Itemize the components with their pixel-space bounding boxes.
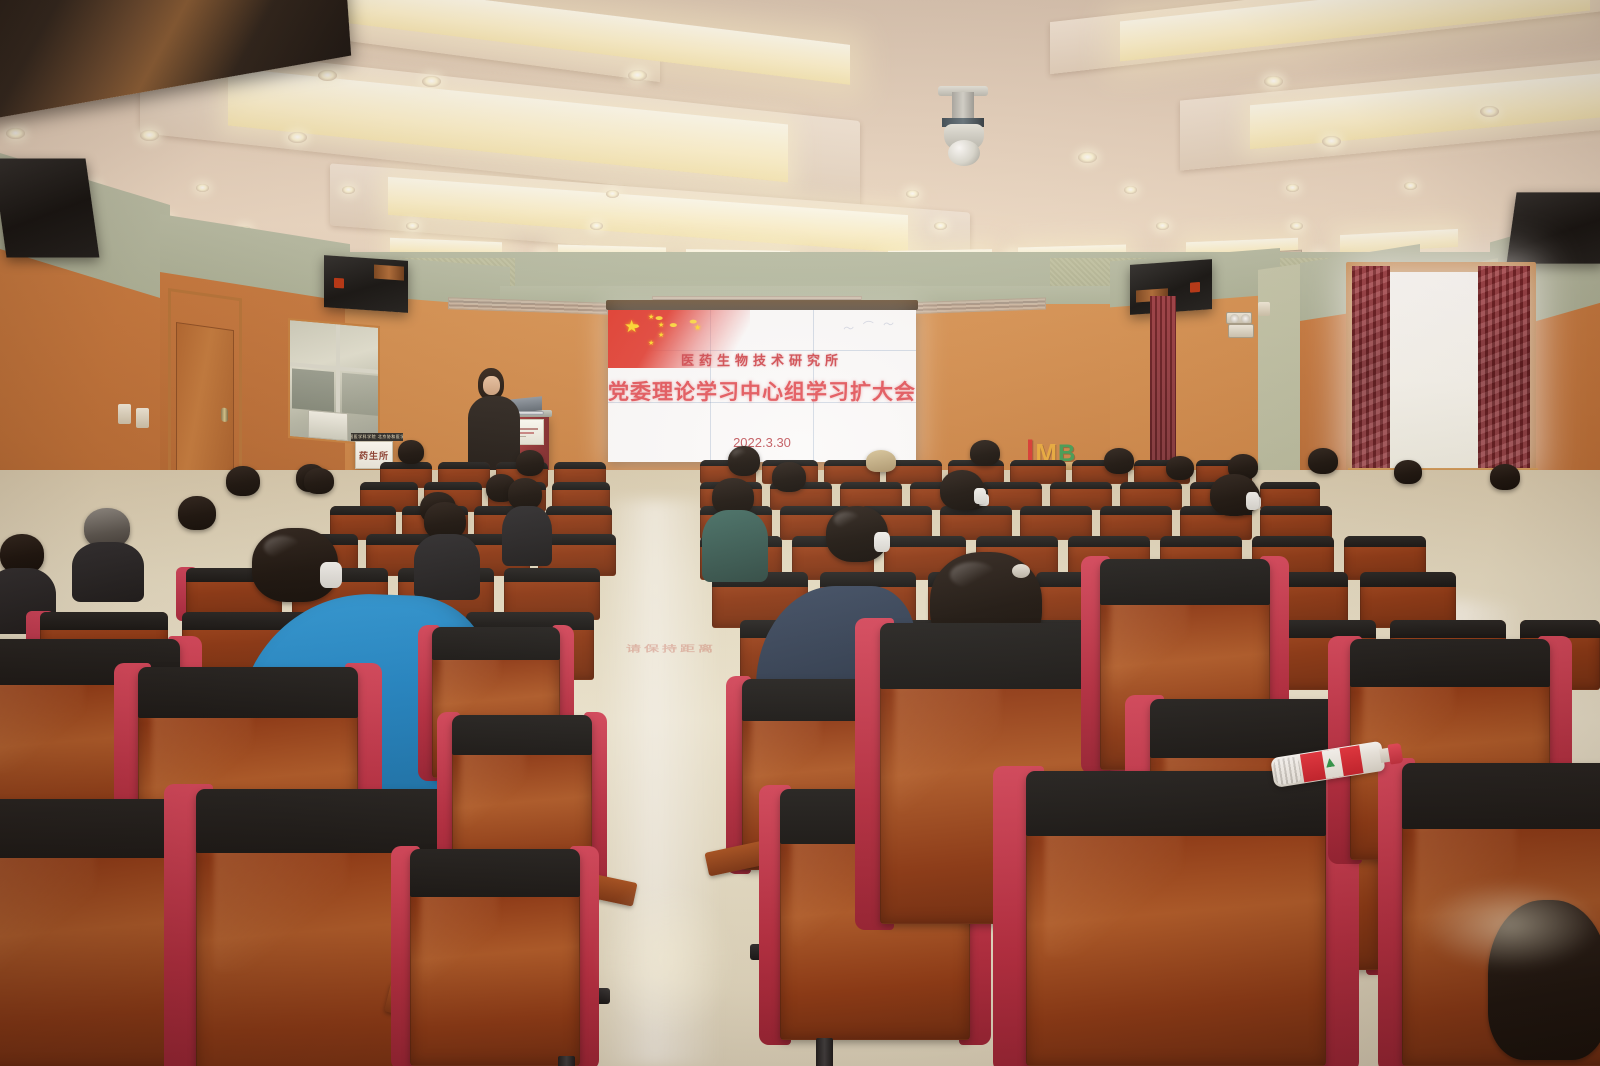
aisle-seat-left-edge-3[interactable] xyxy=(410,850,580,1066)
seat-headrest xyxy=(138,667,358,718)
seat-headrest xyxy=(1402,763,1600,829)
seat-headrest xyxy=(552,482,610,490)
seat-leg xyxy=(816,1038,833,1066)
head xyxy=(226,466,260,496)
seat-headrest xyxy=(1068,536,1150,547)
placard-header-bar: 中国医学科学院 北京协和医学院 xyxy=(351,433,403,441)
window-pane-dark xyxy=(292,368,334,412)
speaker-reflection-left xyxy=(374,265,404,281)
seat-headrest xyxy=(330,506,396,515)
seat-headrest xyxy=(1120,482,1182,489)
downlight-2 xyxy=(318,70,337,81)
seat-headrest xyxy=(880,623,1110,689)
head xyxy=(1488,900,1600,1060)
placard-text: 药生所 xyxy=(359,449,389,462)
head xyxy=(516,450,544,476)
head xyxy=(178,496,216,530)
light-switch-plate-1[interactable] xyxy=(118,404,131,424)
window-inner-box xyxy=(308,410,348,441)
projection-screen-housing xyxy=(606,300,918,310)
downlight-11 xyxy=(1480,106,1499,117)
downlight-19 xyxy=(1404,182,1417,190)
face-mask xyxy=(320,562,342,588)
seat-headrest xyxy=(452,715,592,755)
hair-highlight xyxy=(264,536,300,558)
downlight-17 xyxy=(1124,186,1137,194)
jacket xyxy=(702,510,768,582)
slide-organization-text: 医药生物技术研究所 xyxy=(608,350,916,369)
flag-star-big: ★ xyxy=(624,318,639,335)
jacket xyxy=(414,534,480,600)
downlight-22 xyxy=(406,222,419,230)
speaker-icon-right-far xyxy=(1507,192,1600,263)
camera-dome-lens xyxy=(948,140,980,166)
hair-highlight xyxy=(732,449,746,459)
seat-headrest xyxy=(1260,482,1320,489)
head xyxy=(1104,448,1134,474)
downlight-4 xyxy=(6,128,25,139)
seat-headrest xyxy=(1344,536,1426,547)
foreground-seat-right-6[interactable] xyxy=(1026,772,1326,1066)
seat-headrest xyxy=(410,849,580,897)
emergency-light-icon xyxy=(1226,312,1252,324)
flag-star-5: ★ xyxy=(694,324,701,332)
head-with-cap xyxy=(866,450,896,472)
head xyxy=(1166,456,1194,480)
seat-headrest xyxy=(432,627,560,660)
downlight-9 xyxy=(1078,152,1097,163)
door-handle[interactable] xyxy=(221,407,228,422)
downlight-7 xyxy=(628,70,647,81)
seat-headrest xyxy=(1010,460,1066,466)
curtain-right-panel[interactable] xyxy=(1478,266,1530,470)
light-switch-plate-2[interactable] xyxy=(136,408,149,428)
face-mask xyxy=(974,488,986,504)
wall-control-box[interactable] xyxy=(1228,324,1254,338)
placard-header-text: 中国医学科学院 北京协和医学院 xyxy=(351,434,403,440)
slide-date-text: 2022.3.30 xyxy=(608,435,916,450)
flag-star-2: ★ xyxy=(658,322,664,329)
emergency-lamp-left xyxy=(1230,314,1239,323)
curtain-left-panel[interactable] xyxy=(1352,266,1390,470)
downlight-16 xyxy=(906,190,919,198)
seat-headrest xyxy=(820,572,916,587)
speaker-icon-left-far xyxy=(0,158,99,257)
downlight-26 xyxy=(1290,222,1303,230)
hair-highlight xyxy=(834,512,860,528)
downlight-6 xyxy=(288,132,307,143)
curtain-secondary[interactable] xyxy=(1150,296,1176,472)
seat-headrest xyxy=(840,482,902,489)
seat-headrest xyxy=(1360,572,1456,587)
seat-headrest xyxy=(1050,482,1112,489)
downlight-8 xyxy=(1264,76,1283,87)
speaker-led-right xyxy=(1190,282,1200,293)
speaker-icon-left xyxy=(324,255,408,313)
seat-headrest xyxy=(1100,559,1270,605)
floor-marking-text: 请保持距离 xyxy=(626,643,716,655)
seat-headrest xyxy=(424,482,482,490)
seat-headrest xyxy=(360,482,418,490)
seat-headrest xyxy=(1390,620,1506,638)
seat-headrest xyxy=(976,536,1058,547)
control-room-window xyxy=(288,318,380,446)
wall-outlet-plate[interactable] xyxy=(1258,302,1270,316)
seat-headrest xyxy=(980,482,1042,489)
seat-headrest xyxy=(884,536,966,547)
jacket xyxy=(502,506,552,566)
head xyxy=(772,462,806,492)
slide-cloud-decoration: ～ ⌒ ～ xyxy=(843,315,899,337)
presenter-face xyxy=(483,376,500,395)
floor-highlight-aisle xyxy=(600,500,720,1066)
bottle-ribs xyxy=(1272,756,1302,786)
downlight-23 xyxy=(590,222,603,230)
seat-row-far-right-3 xyxy=(700,506,1380,540)
flag-star-4: ★ xyxy=(648,340,654,347)
seat-leg xyxy=(558,1056,575,1066)
downlight-15 xyxy=(606,190,619,198)
downlight-14 xyxy=(342,186,355,194)
speaker-led-left xyxy=(334,278,344,289)
slide-title-text: 党委理论学习中心组学习扩大会 xyxy=(608,376,916,406)
head xyxy=(1394,460,1422,484)
seat-headrest xyxy=(1020,506,1092,515)
hair-tie xyxy=(1012,564,1030,578)
projection-screen: ★ ★ ★ ★ ★ ★ ～ ⌒ ～ 医药生物技术研究所 党委理论学习中心组学习扩… xyxy=(608,310,916,462)
downlight-25 xyxy=(1156,222,1169,230)
hair-highlight xyxy=(950,562,996,588)
jacket xyxy=(72,542,144,602)
seat-headrest xyxy=(40,612,168,630)
flag-star-1: ★ xyxy=(648,314,654,321)
seat-headrest xyxy=(1252,536,1334,547)
head xyxy=(970,440,1000,466)
seat-headrest xyxy=(546,506,612,515)
seat-headrest xyxy=(504,568,600,582)
downlight-10 xyxy=(1322,136,1341,147)
seat-headrest xyxy=(1350,639,1550,687)
head xyxy=(304,468,334,494)
seat-headrest xyxy=(1160,536,1242,547)
downlight-5 xyxy=(140,130,159,141)
downlight-3 xyxy=(422,76,441,87)
window-pane-dark-2 xyxy=(342,373,380,416)
seat-headrest xyxy=(1100,506,1172,515)
seat-headrest xyxy=(1260,506,1332,515)
face-mask xyxy=(1246,492,1259,510)
downlight-24 xyxy=(934,222,947,230)
downlight-18 xyxy=(1286,184,1299,192)
head xyxy=(1308,448,1338,474)
face-mask xyxy=(874,532,890,552)
seat-headrest xyxy=(554,462,606,469)
downlight-13 xyxy=(196,184,209,192)
flag-star-3: ★ xyxy=(658,332,664,339)
head xyxy=(1490,464,1520,490)
auditorium-photo: 中国医学科学院 北京协和医学院 药生所 ★ ★ xyxy=(0,0,1600,1066)
seat-headrest xyxy=(438,462,490,469)
emergency-lamp-right xyxy=(1241,314,1250,323)
head xyxy=(398,440,424,464)
